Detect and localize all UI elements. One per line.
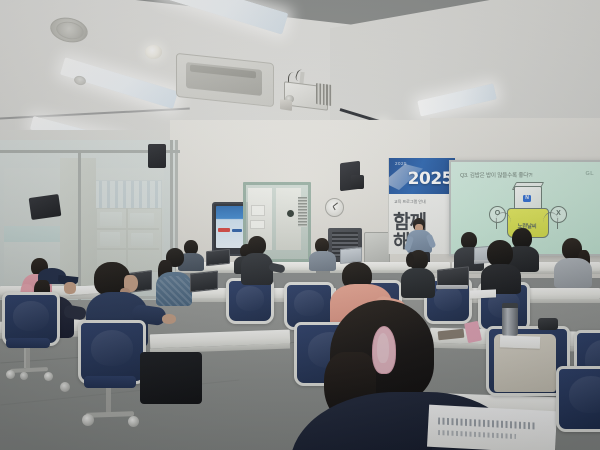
door-knob[interactable] <box>287 210 294 217</box>
small-case[interactable] <box>538 318 558 330</box>
door-notice <box>251 205 265 216</box>
chair-seat[interactable] <box>6 338 50 348</box>
wall-speaker-sub <box>351 175 364 189</box>
chair-caster <box>6 370 15 379</box>
chair-post <box>26 348 30 370</box>
slide-question-text: Q3. 김밥은 밥이 많을수록 좋다?! <box>460 171 533 179</box>
participant-top <box>401 268 435 298</box>
chair-caster <box>44 372 53 381</box>
recessed-downlight <box>145 45 162 59</box>
chair-caster <box>60 382 70 392</box>
training-chair[interactable] <box>78 320 146 384</box>
wall-speaker <box>148 144 166 168</box>
banner-small-text: 교육 프로그램 안내 <box>394 199 446 205</box>
participant-top-pattern <box>156 276 192 306</box>
handout-paper[interactable] <box>470 289 496 298</box>
character-badge: N <box>523 195 531 202</box>
banner-year: 2025 <box>408 169 453 189</box>
participant-top <box>309 251 336 271</box>
chair-post <box>106 388 111 414</box>
laptop-keyboard[interactable] <box>436 285 468 289</box>
kiosk-screen-banner <box>218 228 230 232</box>
classroom-photo: 2025 2025 교육 프로그램 안내 함께해 Q3. 김밥은 밥이 많을수록… <box>0 0 600 450</box>
door-vent <box>298 197 307 227</box>
hair-clip-inner <box>377 333 389 363</box>
participant-top <box>241 253 273 285</box>
participant-face <box>64 282 76 294</box>
projector-front-block <box>280 99 292 111</box>
chair-caster <box>82 414 94 426</box>
chair-seat[interactable] <box>84 376 136 388</box>
projector-vent-fins <box>316 83 332 106</box>
participant-bun <box>406 253 414 267</box>
backpack[interactable] <box>140 352 202 404</box>
chair-caster <box>128 416 139 427</box>
chair-caster <box>20 372 28 380</box>
laptop[interactable] <box>206 249 230 267</box>
paddle-o: O <box>489 206 506 223</box>
slide-logo: GL <box>586 171 594 177</box>
partition-mullion <box>78 150 81 302</box>
kiosk-screen-banner <box>232 229 242 232</box>
participant-head <box>487 240 513 267</box>
laptop[interactable] <box>190 271 218 293</box>
participant-hand <box>162 314 176 324</box>
paddle-x: X <box>550 206 567 223</box>
side-cabinet <box>364 232 390 264</box>
training-chair[interactable] <box>556 366 600 432</box>
wall-speaker <box>29 194 62 220</box>
tumbler-lid[interactable] <box>502 303 518 308</box>
banner-top-line: 2025 <box>395 161 407 166</box>
kiosk-screen[interactable] <box>216 206 244 248</box>
tumbler[interactable] <box>502 306 518 336</box>
participant-top <box>554 258 592 288</box>
handout-paper[interactable] <box>500 335 540 348</box>
door-notice <box>250 220 265 229</box>
handout-paper[interactable] <box>427 405 557 450</box>
